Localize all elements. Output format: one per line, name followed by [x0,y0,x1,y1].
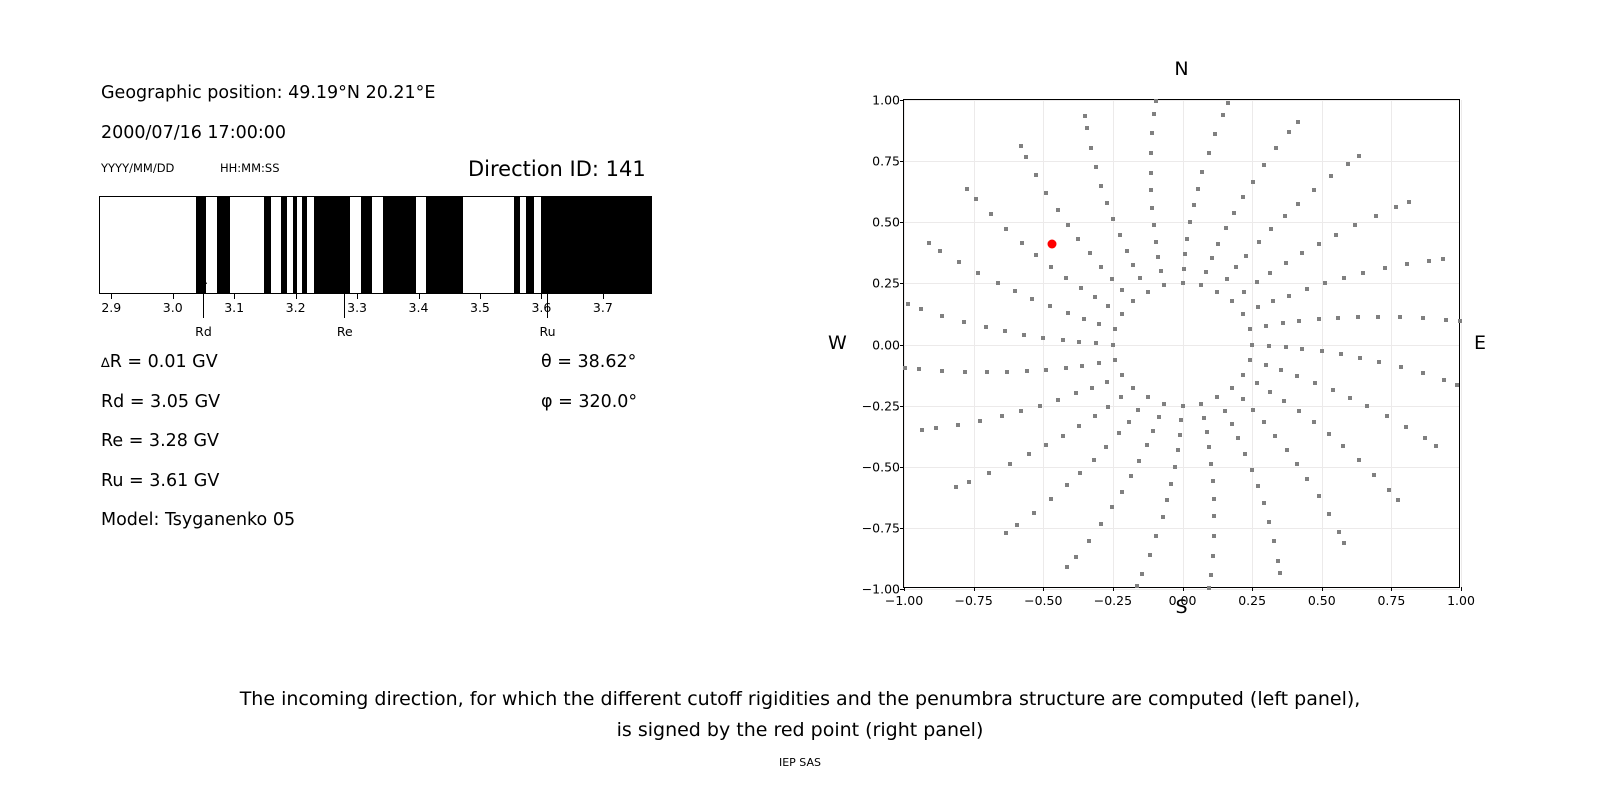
sky-direction-point [1120,490,1124,494]
rigidity-tick-mark [173,294,174,299]
sky-y-tick-mark [900,222,904,223]
penumbra-forbidden-band [526,197,535,293]
sky-direction-point [1173,465,1177,469]
grid-line-vertical [1461,100,1462,587]
sky-direction-point [956,423,960,427]
sky-direction-point [1274,146,1278,150]
sky-direction-point [1048,304,1052,308]
sky-direction-point [1176,448,1180,452]
sky-direction-point [1221,113,1225,117]
rigidity-tick-mark [357,294,358,299]
sky-direction-point [1204,270,1208,274]
sky-direction-point [1161,515,1165,519]
sky-direction-point [1156,255,1160,259]
sky-direction-point [1282,399,1286,403]
sky-direction-point [1003,329,1007,333]
grid-line-horizontal [904,222,1459,223]
sky-y-tick-label: −0.25 [862,398,900,413]
sky-direction-point [1444,318,1448,322]
sky-direction-point [1064,366,1068,370]
sky-direction-point [1341,444,1345,448]
sky-direction-point [1207,586,1211,590]
parameter-block: ∆R = 0.01 GVθ = 38.62°Rd = 3.05 GVφ = 32… [101,352,661,550]
sky-x-tick-label: −0.50 [1024,593,1062,608]
grid-line-vertical [1322,100,1323,587]
caption-line-2: is signed by the red point (right panel) [0,715,1600,746]
caption-line-1: The incoming direction, for which the di… [0,684,1600,715]
sky-direction-point [1005,370,1009,374]
rigidity-tick-mark [541,294,542,299]
rigidity-tick-label: 2.9 [101,300,121,315]
sky-direction-point [1111,217,1115,221]
sky-direction-point [1285,448,1289,452]
sky-direction-point [1085,126,1089,130]
sky-direction-point [1094,341,1098,345]
sky-direction-point [1207,151,1211,155]
sky-direction-point [1300,347,1304,351]
sky-direction-point [1455,383,1459,387]
sky-direction-point [1000,414,1004,418]
sky-direction-point [1146,395,1150,399]
rigidity-tick-label: 3.2 [286,300,306,315]
sky-direction-point [1230,299,1234,303]
sky-direction-point [1365,404,1369,408]
sky-direction-point [1209,573,1213,577]
sky-y-tick-label: 0.50 [872,215,900,230]
sky-direction-point [903,366,907,370]
sky-direction-point [1150,131,1154,135]
sky-direction-point [1317,494,1321,498]
sky-direction-point [1267,344,1271,348]
grid-line-horizontal [904,528,1459,529]
sky-y-tick-mark [900,467,904,468]
penumbra-forbidden-band [264,197,271,293]
sky-direction-point [1297,319,1301,323]
grid-line-vertical [1043,100,1044,587]
sky-direction-point [1020,241,1024,245]
sky-direction-point [1113,327,1117,331]
time-format-hint: HH:MM:SS [220,161,280,175]
sky-direction-point [1077,340,1081,344]
sky-direction-point [1106,405,1110,409]
sky-direction-point [1192,203,1196,207]
sky-direction-point [1056,208,1060,212]
sky-direction-point [963,370,967,374]
sky-direction-point [1113,358,1117,362]
sky-x-tick-label: −0.25 [1094,593,1132,608]
rigidity-marker-arrow [547,276,548,318]
grid-line-horizontal [904,467,1459,468]
sky-direction-point [1135,584,1139,588]
sky-direction-point [1250,343,1254,347]
sky-direction-point [1281,321,1285,325]
sky-direction-point [1088,251,1092,255]
rigidity-tick-label: 3.4 [409,300,429,315]
sky-direction-point [1244,254,1248,258]
sky-direction-point [1323,281,1327,285]
sky-direction-point [1337,530,1341,534]
sky-direction-point [965,187,969,191]
sky-direction-point [1110,505,1114,509]
sky-direction-point [1025,369,1029,373]
sky-direction-point [1093,414,1097,418]
sky-direction-point [1262,501,1266,505]
sky-direction-point [940,369,944,373]
sky-y-tick-mark [900,528,904,529]
rigidity-axis: 2.93.03.13.23.33.43.53.63.7RdReRu [99,294,652,354]
sky-direction-point [1152,112,1156,116]
sky-direction-point [1099,184,1103,188]
sky-direction-point [1038,404,1042,408]
sky-direction-point [1136,408,1140,412]
sky-direction-point [1442,378,1446,382]
parameter-left-value: Model: Tsyganenko 05 [101,510,295,530]
sky-direction-point [1212,497,1216,501]
grid-line-vertical [974,100,975,587]
sky-direction-point [1407,200,1411,204]
sky-direction-point [1385,414,1389,418]
sky-direction-point [985,370,989,374]
sky-direction-point [1423,436,1427,440]
sky-direction-point [1182,267,1186,271]
sky-y-tick-label: 0.75 [872,154,900,169]
penumbra-forbidden-band [302,197,308,293]
sky-direction-point [919,307,923,311]
sky-direction-point [1225,277,1229,281]
sky-direction-point [1329,174,1333,178]
sky-direction-point [1396,498,1400,502]
sky-direction-point [987,471,991,475]
sky-direction-point [1165,498,1169,502]
sky-direction-point [1154,240,1158,244]
sky-x-tick-label: −0.75 [954,593,992,608]
parameter-right-value: φ = 320.0° [541,392,637,412]
sky-direction-point [1215,290,1219,294]
sky-x-tick-mark [974,587,975,591]
sky-direction-point [1092,458,1096,462]
sky-direction-point [1169,482,1173,486]
sky-direction-point [1129,474,1133,478]
sky-direction-point [1215,395,1219,399]
right-panel: N S W E −1.00−0.75−0.50−0.250.000.250.50… [820,40,1520,660]
sky-direction-point [1104,445,1108,449]
sky-direction-point [957,260,961,264]
parameter-row: Model: Tsyganenko 05 [101,510,661,550]
sky-direction-point [1241,195,1245,199]
sky-direction-point [1313,381,1317,385]
sky-direction-point [1110,277,1114,281]
sky-map-plot: −1.00−0.75−0.50−0.250.000.250.500.751.00… [903,99,1460,588]
rigidity-tick-label: 3.7 [593,300,613,315]
selected-direction-point [1047,240,1056,249]
sky-direction-point [1398,315,1402,319]
sky-direction-point [1140,572,1144,576]
sky-direction-point [1090,386,1094,390]
sky-direction-point [1243,452,1247,456]
sky-direction-point [1004,227,1008,231]
geographic-position-label: Geographic position: 49.19°N 20.21°E [101,83,436,103]
sky-direction-point [1157,415,1161,419]
sky-direction-point [1342,541,1346,545]
sky-direction-point [1251,408,1255,412]
sky-direction-point [1159,269,1163,273]
grid-line-horizontal [904,589,1459,590]
sky-direction-point [934,426,938,430]
rigidity-tick-mark [480,294,481,299]
sky-direction-point [1019,409,1023,413]
sky-direction-point [1357,154,1361,158]
sky-direction-point [1421,371,1425,375]
sky-direction-point [1211,479,1215,483]
sky-direction-point [1348,396,1352,400]
sky-direction-point [1154,534,1158,538]
sky-direction-point [1255,280,1259,284]
sky-direction-point [1074,391,1078,395]
sky-direction-point [1097,361,1101,365]
sky-direction-point [1256,305,1260,309]
sky-direction-point [1284,261,1288,265]
sky-x-tick-mark [1461,587,1462,591]
sky-direction-point [1226,101,1230,105]
rigidity-tick-mark [234,294,235,299]
parameter-row: ∆R = 0.01 GVθ = 38.62° [101,352,661,392]
sky-direction-point [1066,311,1070,315]
sky-direction-point [1162,402,1166,406]
sky-direction-point [1117,431,1121,435]
sky-direction-point [1111,343,1115,347]
sky-direction-point [1149,188,1153,192]
sky-direction-point [1196,187,1200,191]
compass-east-label: E [1474,332,1486,354]
footer-credit: IEP SAS [0,756,1600,769]
sky-direction-point [1150,206,1154,210]
sky-direction-point [917,367,921,371]
sky-x-tick-label: 0.50 [1308,593,1336,608]
sky-direction-point [1336,316,1340,320]
sky-direction-point [1230,422,1234,426]
sky-direction-point [1131,299,1135,303]
sky-direction-point [1273,434,1277,438]
rigidity-tick-mark [603,294,604,299]
sky-direction-point [996,281,1000,285]
sky-y-tick-mark [900,345,904,346]
sky-x-tick-label: −1.00 [885,593,923,608]
sky-y-tick-mark [900,100,904,101]
sky-direction-point [1297,409,1301,413]
sky-direction-point [1034,253,1038,257]
sky-direction-point [1181,404,1185,408]
sky-direction-point [1049,497,1053,501]
sky-direction-point [1241,373,1245,377]
rigidity-tick-label: 3.1 [224,300,244,315]
sky-direction-point [1076,237,1080,241]
sky-x-tick-mark [1043,587,1044,591]
rigidity-marker-label: Ru [540,324,556,339]
sky-direction-point [1262,420,1266,424]
sky-direction-point [1287,294,1291,298]
sky-y-tick-label: −0.50 [862,459,900,474]
sky-direction-point [1049,265,1053,269]
sky-direction-point [1066,223,1070,227]
sky-direction-point [1181,281,1185,285]
sky-direction-point [1296,120,1300,124]
sky-direction-point [1185,237,1189,241]
sky-direction-point [1358,356,1362,360]
sky-direction-point [1268,271,1272,275]
sky-direction-point [938,249,942,253]
sky-direction-point [1061,434,1065,438]
parameter-left-value: ∆R = 0.01 GV [101,352,218,372]
direction-id-label: Direction ID: 141 [468,157,646,181]
sky-direction-point [1105,201,1109,205]
sky-direction-point [1264,324,1268,328]
sky-direction-point [1145,443,1149,447]
sky-direction-point [1356,315,1360,319]
sky-direction-point [1241,312,1245,316]
sky-direction-point [1078,471,1082,475]
sky-direction-point [1317,242,1321,246]
rigidity-tick-mark [296,294,297,299]
sky-direction-point [1027,452,1031,456]
sky-direction-point [1272,539,1276,543]
sky-direction-point [1212,534,1216,538]
sky-direction-point [1346,162,1350,166]
sky-direction-point [1278,571,1282,575]
sky-direction-point [1056,398,1060,402]
sky-direction-point [1241,397,1245,401]
sky-direction-point [1255,381,1259,385]
sky-direction-point [1305,477,1309,481]
sky-x-tick-mark [1113,587,1114,591]
sky-direction-point [1199,283,1203,287]
sky-direction-point [1099,522,1103,526]
sky-direction-point [1041,336,1045,340]
sky-direction-point [1034,173,1038,177]
figure-canvas: Geographic position: 49.19°N 20.21°E 200… [0,0,1600,800]
sky-direction-point [1205,430,1209,434]
datetime-label: 2000/07/16 17:00:00 [101,123,286,143]
sky-direction-point [1334,233,1338,237]
sky-direction-point [1015,523,1019,527]
sky-direction-point [1004,531,1008,535]
penumbra-forbidden-band [293,197,297,293]
sky-direction-point [1087,539,1091,543]
sky-direction-point [1199,402,1203,406]
sky-x-tick-mark [1322,587,1323,591]
sky-direction-point [1257,240,1261,244]
sky-x-tick-label: 0.25 [1238,593,1266,608]
sky-direction-point [1022,333,1026,337]
sky-direction-point [989,212,993,216]
compass-west-label: W [828,332,847,354]
penumbra-forbidden-band [541,197,652,293]
sky-direction-point [1312,188,1316,192]
sky-direction-point [1044,443,1048,447]
sky-direction-point [1361,271,1365,275]
left-panel: Geographic position: 49.19°N 20.21°E 200… [0,0,760,660]
rigidity-marker-arrow [344,276,345,318]
sky-direction-point [1064,276,1068,280]
rigidity-tick-label: 3.5 [470,300,490,315]
sky-direction-point [1080,364,1084,368]
sky-direction-point [967,480,971,484]
sky-direction-point [1224,226,1228,230]
sky-direction-point [1200,170,1204,174]
sky-direction-point [1295,374,1299,378]
penumbra-chart [99,196,652,294]
sky-direction-point [1331,388,1335,392]
penumbra-forbidden-band [383,197,417,293]
sky-direction-point [1178,433,1182,437]
sky-direction-point [1138,276,1142,280]
sky-direction-point [1032,511,1036,515]
sky-direction-point [920,428,924,432]
parameter-left-value: Rd = 3.05 GV [101,392,220,412]
sky-x-tick-label: 0.00 [1169,593,1197,608]
sky-direction-point [1256,484,1260,488]
sky-direction-point [1327,432,1331,436]
grid-line-horizontal [904,100,1459,101]
penumbra-forbidden-band [514,197,520,293]
sky-direction-point [1387,488,1391,492]
sky-y-tick-mark [900,283,904,284]
sky-direction-point [1320,349,1324,353]
sky-direction-point [1372,473,1376,477]
sky-direction-point [1377,360,1381,364]
sky-direction-point [1276,559,1280,563]
sky-direction-point [1106,304,1110,308]
sky-direction-point [1120,373,1124,377]
sky-direction-point [1248,327,1252,331]
sky-direction-point [1269,227,1273,231]
sky-direction-point [1131,386,1135,390]
sky-direction-point [1394,205,1398,209]
sky-direction-point [1105,380,1109,384]
sky-x-tick-label: 1.00 [1447,593,1475,608]
rigidity-tick-mark [111,294,112,299]
rigidity-marker-arrow [203,276,204,318]
sky-direction-point [1152,223,1156,227]
parameter-row: Rd = 3.05 GVφ = 320.0° [101,392,661,432]
sky-direction-point [1327,512,1331,516]
sky-direction-point [1357,458,1361,462]
sky-direction-point [1148,553,1152,557]
rigidity-tick-mark [419,294,420,299]
sky-direction-point [1268,390,1272,394]
sky-direction-point [1242,290,1246,294]
sky-direction-point [1353,223,1357,227]
sky-direction-point [1458,319,1462,323]
date-format-hint: YYYY/MM/DD [101,161,174,175]
rigidity-tick-label: 3.3 [347,300,367,315]
sky-direction-point [1374,214,1378,218]
sky-direction-point [940,314,944,318]
rigidity-tick-label: 3.0 [163,300,183,315]
sky-direction-point [906,302,910,306]
sky-direction-point [1151,429,1155,433]
sky-direction-point [1279,368,1283,372]
sky-direction-point [1232,211,1236,215]
sky-y-tick-mark [900,161,904,162]
sky-direction-point [1179,418,1183,422]
sky-direction-point [1211,554,1215,558]
sky-direction-point [1030,297,1034,301]
sky-direction-point [1024,155,1028,159]
sky-x-tick-mark [904,587,905,591]
sky-direction-point [1300,251,1304,255]
sky-direction-point [1044,368,1048,372]
sky-direction-point [976,271,980,275]
